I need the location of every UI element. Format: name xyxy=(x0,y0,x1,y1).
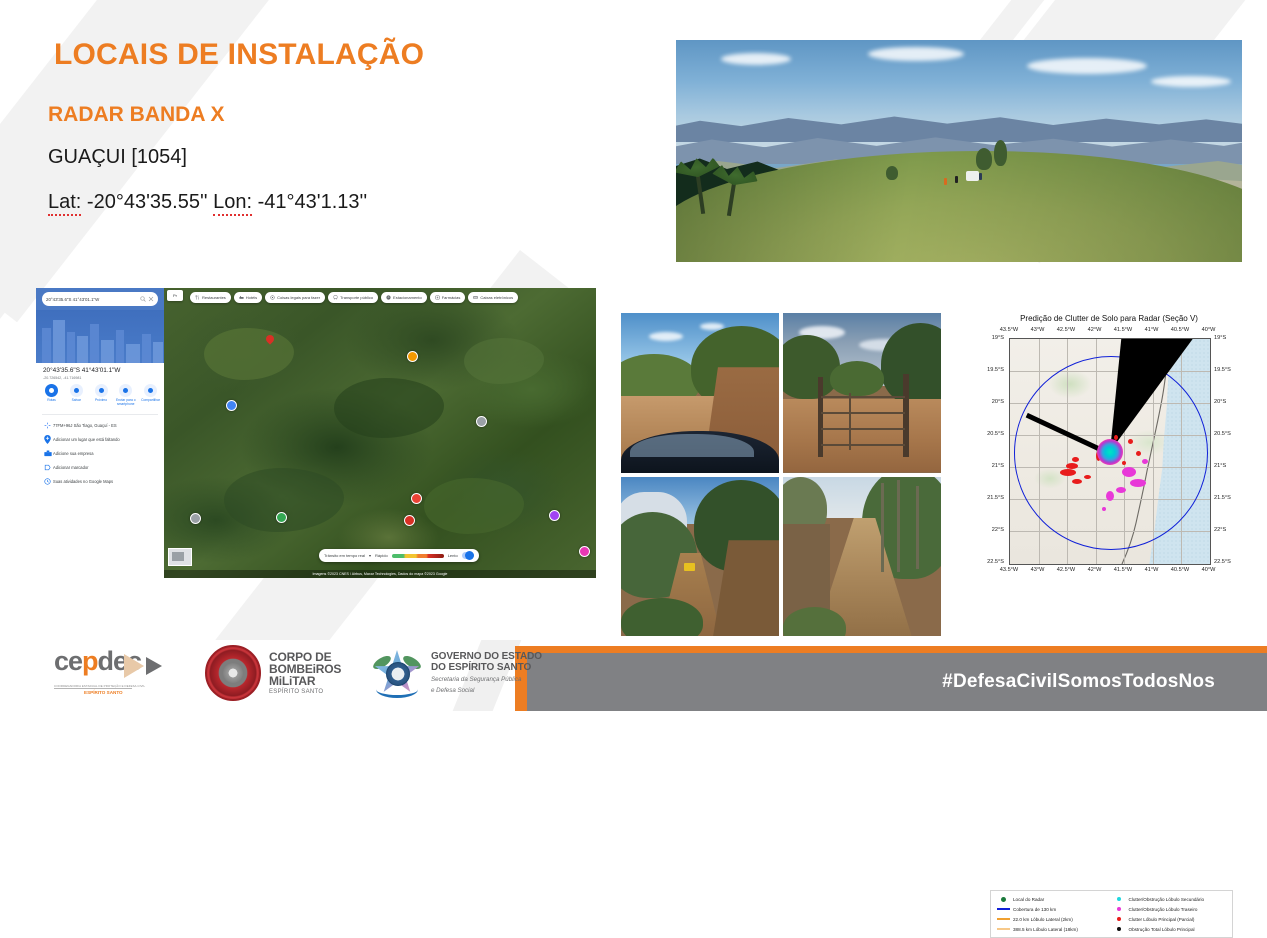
banner-hashtag: #DefesaCivilSomosTodosNos xyxy=(942,671,1215,693)
legend-item: Clutter/Obstrução Lóbulo Secundário xyxy=(1112,894,1228,904)
legend-item: Local do Radar xyxy=(996,894,1112,904)
chip-label: Hotéis xyxy=(246,295,257,300)
y-tick-right: 22°S xyxy=(1214,527,1226,533)
cepdec-logo: cepdec COORDENADORIA ESTADUAL DE PROTEÇÃ… xyxy=(54,648,174,700)
action-label: Rotas xyxy=(40,399,63,403)
business-icon xyxy=(42,448,53,459)
cepdec-triangle-light xyxy=(124,654,144,678)
legend-item: Clutter/Obstrução Lóbulo Traseiro xyxy=(1112,904,1228,914)
send-to-phone-icon xyxy=(119,384,132,397)
y-tick-left: 22.5°S xyxy=(987,559,1004,565)
list-item[interactable]: 77FM+96J São Tiago, Guaçuí - ES xyxy=(42,418,162,432)
add-place-icon xyxy=(42,434,53,445)
atm-icon xyxy=(473,295,478,300)
clutter-main-lobe-partial xyxy=(1072,479,1082,484)
page-title: LOCAIS DE INSTALAÇÃO xyxy=(54,38,424,72)
x-tick-bottom: 43.5°W xyxy=(1000,567,1018,573)
cepdec-state: ESPÍRITO SANTO xyxy=(84,690,123,695)
chip-estacionamento[interactable]: PEstacionamento xyxy=(381,292,427,303)
y-tick-right: 20.5°S xyxy=(1214,431,1231,437)
person xyxy=(944,178,947,185)
traffic-legend[interactable]: Trânsito em tempo real ▾ Rápido Lento xyxy=(319,549,479,562)
person xyxy=(979,173,982,180)
hotel-icon xyxy=(239,295,244,300)
cepdec-text-b: p xyxy=(82,646,98,676)
y-tick-right: 19°S xyxy=(1214,335,1226,341)
action-salvar[interactable]: Salvar xyxy=(65,384,88,407)
clutter-main-lobe-partial xyxy=(1136,451,1141,456)
divider xyxy=(54,688,132,689)
list-item[interactable]: Adicionar um lugar que está faltando xyxy=(42,432,162,446)
list-item[interactable]: Adicione sua empresa xyxy=(42,446,162,460)
maps-place-panel: 20°43'35.6"S 41°43'01.1"W 20°43'35.6"S 4… xyxy=(36,288,164,578)
x-tick-bottom: 40°W xyxy=(1202,567,1216,573)
list-item[interactable]: Adicionar marcador xyxy=(42,460,162,474)
action-label: Enviar para o smartphone xyxy=(114,399,137,407)
bombeiros-wordmark: CORPO DE BOMBEiROS MiLiTAR ESPÍRITO SANT… xyxy=(269,651,341,696)
cloud xyxy=(1151,76,1231,87)
close-icon[interactable] xyxy=(148,296,154,302)
action-label: Próximo xyxy=(90,399,113,403)
map-poi-marker[interactable] xyxy=(476,416,487,427)
governo-line-2: DO ESPÍRITO SANTO xyxy=(431,662,542,673)
action-label: Compartilhar xyxy=(139,399,162,403)
clutter-back-lobe xyxy=(1142,459,1148,464)
x-tick-bottom: 43°W xyxy=(1031,567,1045,573)
attractions-icon xyxy=(270,295,275,300)
traffic-fast-label: Rápido xyxy=(375,553,388,558)
google-maps-screenshot[interactable]: 20°43'35.6"S 41°43'01.1"W 20°43'35.6"S 4… xyxy=(36,288,596,578)
red-dot-icon xyxy=(1112,917,1126,921)
x-tick-top: 41°W xyxy=(1145,327,1159,333)
legend-label: 388.5 km Lóbulo Lateral (18km) xyxy=(1013,927,1078,932)
action-label: Salvar xyxy=(65,399,88,403)
x-tick-top: 43°W xyxy=(1031,327,1045,333)
traffic-select-value[interactable]: Trânsito em tempo real xyxy=(324,553,365,558)
blue-line-icon xyxy=(996,908,1010,910)
cepdec-text-a: ce xyxy=(54,646,82,676)
clutter-main-lobe-partial xyxy=(1122,461,1126,465)
restaurant-icon xyxy=(195,295,200,300)
search-input-value: 20°43'35.6"S 41°43'01.1"W xyxy=(46,297,138,302)
list-item-label: Adicionar marcador xyxy=(53,465,89,470)
radar-clutter-chart: Predição de Clutter de Solo para Radar (… xyxy=(966,311,1252,636)
legend-item: 388.5 km Lóbulo Lateral (18km) xyxy=(996,924,1112,934)
person xyxy=(955,176,958,183)
legend-label: Clutter/Obstrução Lóbulo Secundário xyxy=(1129,897,1205,902)
pharmacy-icon xyxy=(435,295,440,300)
bombeiros-line-3: MiLiTAR xyxy=(269,675,341,687)
x-tick-bottom: 42°W xyxy=(1088,567,1102,573)
y-tick-left: 22°S xyxy=(992,527,1004,533)
radar-band-subtitle: RADAR BANDA X xyxy=(48,103,225,127)
marker-icon xyxy=(42,462,53,473)
cepdec-triangle-dark xyxy=(146,657,162,675)
action-proximo[interactable]: Próximo xyxy=(90,384,113,407)
tree xyxy=(976,148,992,170)
legend-label: 22.0 km Lóbulo Lateral (2km) xyxy=(1013,917,1073,922)
chip-label: Restaurantes xyxy=(202,295,226,300)
maps-category-chips: Restaurantes Hotéis Coisas legais para f… xyxy=(164,290,596,305)
tree xyxy=(994,140,1007,166)
y-tick-left: 19°S xyxy=(992,335,1004,341)
cepdec-subtitle: COORDENADORIA ESTADUAL DE PROTEÇÃO E DEF… xyxy=(54,684,145,688)
hashtag-banner: #DefesaCivilSomosTodosNos xyxy=(515,646,1267,711)
clutter-back-lobe xyxy=(1102,507,1106,511)
lat-label: Lat: xyxy=(48,191,81,216)
coordinates-line: Lat: -20°43'35.55'' Lon: -41°43'1.13'' xyxy=(48,191,367,214)
hillside-track-truck-photo xyxy=(621,477,779,637)
map-poi-marker[interactable] xyxy=(190,513,201,524)
governo-line-4: e Defesa Social xyxy=(431,687,542,695)
map-marker-target[interactable] xyxy=(266,335,274,346)
governo-line-1: GOVERNO DO ESTADO xyxy=(431,651,542,662)
x-tick-top: 40°W xyxy=(1202,327,1216,333)
clutter-back-lobe xyxy=(1122,467,1136,477)
black-dot-icon xyxy=(1112,927,1126,931)
chip-caixas-eletronicos[interactable]: Caixas eletrônicos xyxy=(468,292,518,303)
list-item-label: Adicione sua empresa xyxy=(53,451,94,456)
x-tick-top: 42°W xyxy=(1088,327,1102,333)
chip-restaurantes[interactable]: Restaurantes xyxy=(190,292,231,303)
governo-line-3: Secretaria da Segurança Pública xyxy=(431,676,542,684)
place-action-bar: Rotas Salvar Próximo Enviar para o smart… xyxy=(40,384,162,407)
y-tick-left: 21°S xyxy=(992,463,1004,469)
governo-espirito-santo-logo: GOVERNO DO ESTADO DO ESPÍRITO SANTO Secr… xyxy=(370,645,570,701)
site-photo-grid xyxy=(621,313,941,636)
eucalyptus-trail-photo xyxy=(783,477,941,637)
y-tick-right: 21.5°S xyxy=(1214,495,1231,501)
action-enviar-smartphone[interactable]: Enviar para o smartphone xyxy=(114,384,137,407)
directions-icon xyxy=(45,384,58,397)
yellow-truck xyxy=(684,563,695,571)
map-poi-marker[interactable] xyxy=(579,546,590,557)
list-item-label: 77FM+96J São Tiago, Guaçuí - ES xyxy=(53,423,117,428)
governo-wordmark: GOVERNO DO ESTADO DO ESPÍRITO SANTO Secr… xyxy=(431,651,542,695)
city-label: GUAÇUI [1054] xyxy=(48,146,187,169)
lon-label: Lon: xyxy=(213,191,252,216)
traffic-gradient xyxy=(392,554,444,558)
y-tick-left: 19.5°S xyxy=(987,367,1004,373)
x-tick-top: 40.5°W xyxy=(1171,327,1189,333)
chip-hoteis[interactable]: Hotéis xyxy=(234,292,262,303)
place-decimal-coords: -20.726542, -41.716981 xyxy=(43,376,81,380)
history-icon xyxy=(42,476,53,487)
list-item-label: Adicionar um lugar que está faltando xyxy=(53,437,120,442)
divider xyxy=(42,414,158,415)
x-tick-top: 43.5°W xyxy=(1000,327,1018,333)
map-poi-marker[interactable] xyxy=(407,351,418,362)
bombeiros-line-4: ESPÍRITO SANTO xyxy=(269,689,341,695)
traffic-slow-label: Lento xyxy=(448,553,458,558)
legend-item: Cobertura de 130 km xyxy=(996,904,1112,914)
place-hero-illustration xyxy=(36,310,164,363)
clutter-main-lobe-partial xyxy=(1072,457,1079,462)
chip-label: Estacionamento xyxy=(393,295,422,300)
y-tick-right: 22.5°S xyxy=(1214,559,1231,565)
clutter-main-lobe-partial xyxy=(1128,439,1133,444)
clutter-main-lobe-partial xyxy=(1060,469,1076,476)
map-poi-marker[interactable] xyxy=(226,400,237,411)
magenta-dot-icon xyxy=(1112,907,1126,911)
corpo-de-bombeiros-militar-logo: CORPO DE BOMBEiROS MiLiTAR ESPÍRITO SANT… xyxy=(205,645,385,701)
y-tick-right: 20°S xyxy=(1214,399,1226,405)
traffic-toggle[interactable] xyxy=(462,552,474,559)
bookmark-icon xyxy=(70,384,83,397)
legend-label: Clutter Lóbulo Principal (Parcial) xyxy=(1129,917,1195,922)
lat-value: -20°43'35.55'' xyxy=(87,191,208,213)
chart-plot-area xyxy=(1009,338,1211,565)
x-tick-bottom: 40.5°W xyxy=(1171,567,1189,573)
cloud xyxy=(868,47,964,61)
chip-transporte-publico[interactable]: Transporte público xyxy=(328,292,378,303)
search-icon[interactable] xyxy=(140,296,146,302)
clutter-back-lobe xyxy=(1116,487,1126,493)
action-rotas[interactable]: Rotas xyxy=(40,384,63,407)
legend-label: Local do Radar xyxy=(1013,897,1044,902)
y-tick-right: 21°S xyxy=(1214,463,1226,469)
share-icon xyxy=(144,384,157,397)
map-poi-marker[interactable] xyxy=(411,493,422,504)
chart-legend: Local do Radar Clutter/Obstrução Lóbulo … xyxy=(990,890,1233,938)
transit-icon xyxy=(333,295,338,300)
legend-label: Obstrução Total Lóbulo Principal xyxy=(1129,927,1195,932)
street-view-thumbnail[interactable] xyxy=(168,548,192,566)
place-menu-list: 77FM+96J São Tiago, Guaçuí - ES Adiciona… xyxy=(42,418,162,488)
cyan-dot-icon xyxy=(1112,897,1126,901)
bombeiros-crest-icon xyxy=(205,645,261,701)
clutter-back-lobe xyxy=(1106,491,1114,501)
satellite-map-canvas[interactable]: Pr Restaurantes Hotéis Coisas legais par… xyxy=(164,288,596,578)
search-input[interactable]: 20°43'35.6"S 41°43'01.1"W xyxy=(42,292,158,306)
legend-item: 22.0 km Lóbulo Lateral (2km) xyxy=(996,914,1112,924)
parking-icon: P xyxy=(386,295,391,300)
legend-item: Obstrução Total Lóbulo Principal xyxy=(1112,924,1228,934)
orange-line-icon xyxy=(996,918,1010,920)
x-tick-bottom: 41.5°W xyxy=(1114,567,1132,573)
nearby-search-icon xyxy=(95,384,108,397)
radar-site-clutter-rings xyxy=(1097,439,1123,465)
dirt-road-from-vehicle-photo xyxy=(621,313,779,473)
legend-label: Clutter/Obstrução Lóbulo Traseiro xyxy=(1129,907,1198,912)
legend-item: Clutter Lóbulo Principal (Parcial) xyxy=(1112,914,1228,924)
place-title: 20°43'35.6"S 41°43'01.1"W xyxy=(43,367,120,374)
clutter-back-lobe xyxy=(1130,479,1146,487)
y-tick-left: 20.5°S xyxy=(987,431,1004,437)
chart-title: Predição de Clutter de Solo para Radar (… xyxy=(966,314,1252,323)
chip-label: Farmácias xyxy=(442,295,461,300)
map-poi-marker[interactable] xyxy=(276,512,287,523)
chip-label: Coisas legais para fazer xyxy=(277,295,320,300)
chip-label: Caixas eletrônicos xyxy=(480,295,513,300)
cloud xyxy=(1027,58,1147,74)
equipment-case xyxy=(966,171,979,181)
chip-label: Transporte público xyxy=(340,295,373,300)
plus-code-icon xyxy=(42,420,53,431)
chevron-down-icon[interactable]: ▾ xyxy=(369,553,371,558)
farm-gate-photo xyxy=(783,313,941,473)
light-orange-line-icon xyxy=(996,928,1010,930)
action-compartilhar[interactable]: Compartilhar xyxy=(139,384,162,407)
legend-label: Cobertura de 130 km xyxy=(1013,907,1056,912)
list-item-label: Suas atividades no Google Maps xyxy=(53,479,113,484)
clutter-main-lobe-partial xyxy=(1084,475,1091,479)
chip-coisas-legais[interactable]: Coisas legais para fazer xyxy=(265,292,325,303)
x-tick-top: 41.5°W xyxy=(1114,327,1132,333)
y-tick-left: 21.5°S xyxy=(987,495,1004,501)
hilltop-panorama-photo xyxy=(676,40,1242,262)
lon-value: -41°43'1.13'' xyxy=(258,191,368,213)
list-item[interactable]: Suas atividades no Google Maps xyxy=(42,474,162,488)
y-tick-left: 20°S xyxy=(992,399,1004,405)
map-poi-marker[interactable] xyxy=(404,515,415,526)
chip-farmacias[interactable]: Farmácias xyxy=(430,292,466,303)
radar-site-marker-icon xyxy=(996,897,1010,902)
map-attribution: Imagens ©2023 CNES / Airbus, Maxar Techn… xyxy=(164,570,596,578)
x-tick-bottom: 41°W xyxy=(1145,567,1159,573)
bombeiros-line-1: CORPO DE xyxy=(269,651,341,663)
tree xyxy=(886,166,898,180)
governo-crest-icon xyxy=(370,646,424,700)
map-poi-marker[interactable] xyxy=(549,510,560,521)
banner-inner: #DefesaCivilSomosTodosNos xyxy=(527,653,1267,711)
maps-search-bar: 20°43'35.6"S 41°43'01.1"W xyxy=(36,288,164,310)
x-tick-top: 42.5°W xyxy=(1057,327,1075,333)
y-tick-right: 19.5°S xyxy=(1214,367,1231,373)
x-tick-bottom: 42.5°W xyxy=(1057,567,1075,573)
